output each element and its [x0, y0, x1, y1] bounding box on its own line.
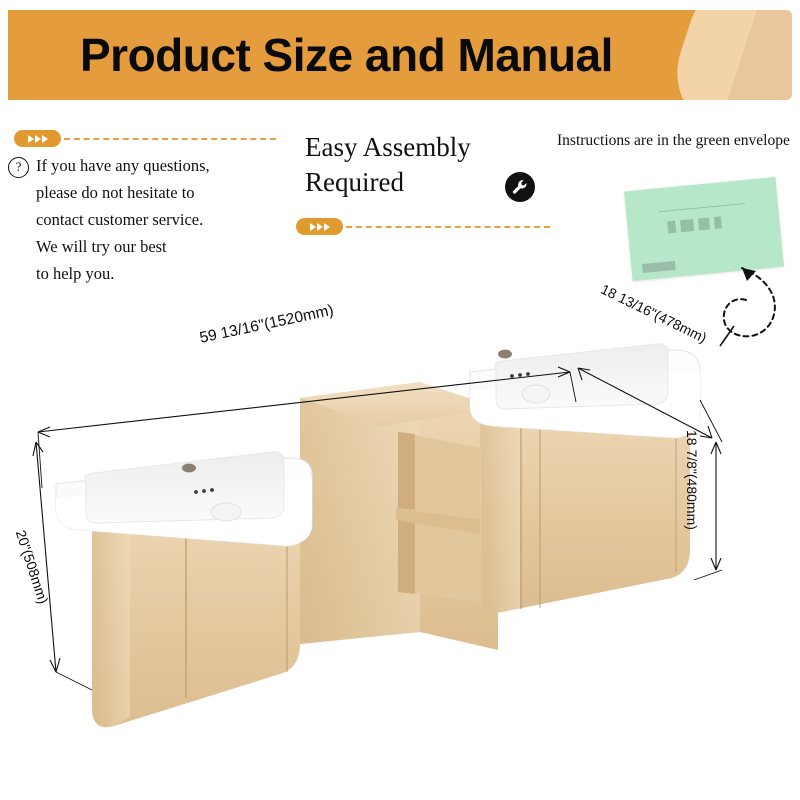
dimension-height-right-label: 18 7/8"(480mm) [684, 430, 700, 530]
instructions-text: Instructions are in the green envelope [557, 130, 800, 152]
chevron-icon [28, 135, 34, 143]
center-open-shelf [300, 382, 500, 650]
chevron-arrows-icon [14, 130, 61, 147]
chevron-icon [35, 135, 41, 143]
right-sink-basin [470, 344, 700, 438]
infographic-page: Product Size and Manual ? If you have an… [0, 0, 800, 800]
faucet-hole [182, 464, 196, 473]
drain-cover [522, 385, 550, 403]
product-illustration [0, 220, 800, 800]
faucet-hole [498, 350, 512, 359]
drain-cover [211, 503, 241, 521]
assembly-block: Easy Assembly Required [305, 130, 545, 200]
envelope-print-line [660, 203, 745, 212]
chevron-icon [42, 135, 48, 143]
header-banner: Product Size and Manual [8, 10, 792, 100]
divider-questions [14, 130, 276, 147]
dashed-rule [64, 138, 276, 140]
wrench-circle-icon [505, 172, 535, 202]
question-mark-circle-icon: ? [8, 157, 29, 178]
page-title: Product Size and Manual [80, 28, 613, 82]
